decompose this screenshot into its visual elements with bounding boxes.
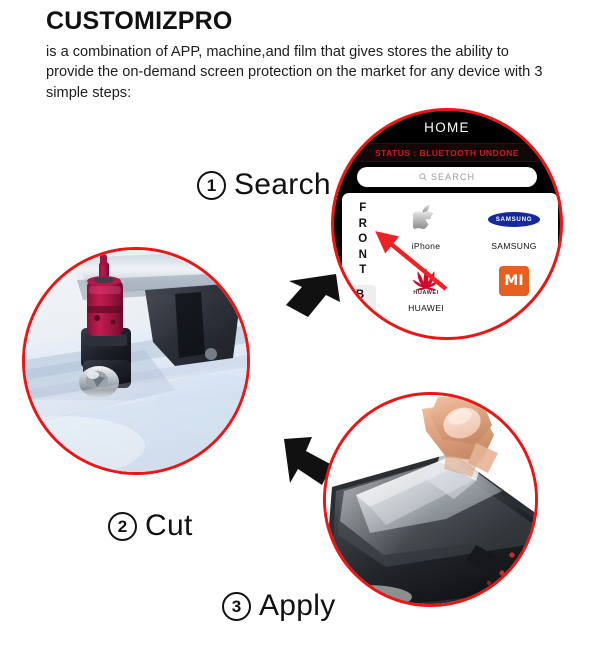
step-3-label: Apply xyxy=(259,589,336,623)
arrow-search-to-cut xyxy=(276,268,346,326)
samsung-wordmark: SAMSUNG xyxy=(496,216,533,223)
side-tab-front[interactable]: F R O N T xyxy=(352,201,374,279)
step-2-caption: 2 Cut xyxy=(108,509,193,543)
front-letter-n: N xyxy=(352,248,374,264)
apple-logo-icon xyxy=(386,199,466,239)
side-tab-back[interactable]: B xyxy=(344,285,376,327)
brand-label-samsung: SAMSUNG xyxy=(474,241,554,251)
front-letter-r: R xyxy=(352,217,374,233)
mi-logo-icon: MI xyxy=(474,261,554,301)
step-1-caption: 1 Search xyxy=(197,168,331,202)
step-1-label: Search xyxy=(234,168,331,202)
brand-tile-samsung[interactable]: SAMSUNG SAMSUNG xyxy=(474,199,554,251)
front-letter-o: O xyxy=(352,232,374,248)
search-icon xyxy=(419,173,427,181)
step-3-apply-circle xyxy=(323,392,538,607)
step-2-cutter-circle xyxy=(22,247,250,475)
circled-number-one-icon: 1 xyxy=(197,171,226,200)
brand-label-huawei: HUAWEI xyxy=(386,303,466,313)
huawei-wordmark: HUAWEI xyxy=(413,290,438,296)
intro-paragraph: is a combination of APP, machine,and fil… xyxy=(46,42,558,104)
samsung-oval: SAMSUNG xyxy=(488,212,540,227)
brand-tile-huawei[interactable]: HUAWEI HUAWEI xyxy=(386,261,466,313)
samsung-logo-icon: SAMSUNG xyxy=(474,199,554,239)
phone-brand-list: F R O N T B xyxy=(342,193,558,340)
step-1-phone-app-circle: HOME STATUS : BLUETOOTH UNDONE SEARCH F … xyxy=(331,108,563,340)
brand-tile-mi[interactable]: MI xyxy=(474,261,554,303)
mi-wordmark: MI xyxy=(504,273,523,289)
circled-number-three-icon: 3 xyxy=(222,592,251,621)
phone-app-screen: HOME STATUS : BLUETOOTH UNDONE SEARCH F … xyxy=(334,111,560,337)
brand-label-iphone: iPhone xyxy=(386,241,466,251)
hand-applying-screen-film-photo xyxy=(326,395,538,607)
phone-search-bar-area: SEARCH xyxy=(334,163,560,191)
front-letter-t: T xyxy=(352,263,374,279)
phone-app-title: HOME xyxy=(424,120,470,135)
back-letter-b: B xyxy=(344,285,376,304)
cutting-machine-blade-photo xyxy=(25,250,250,475)
phone-app-topbar: HOME xyxy=(334,111,560,143)
huawei-logo-icon: HUAWEI xyxy=(386,261,466,301)
search-input[interactable]: SEARCH xyxy=(357,167,537,187)
circled-number-two-icon: 2 xyxy=(108,512,137,541)
page-title: CUSTOMIZPRO xyxy=(46,8,566,36)
mi-square: MI xyxy=(499,266,529,296)
front-letter-f: F xyxy=(352,201,374,217)
step-3-caption: 3 Apply xyxy=(222,589,336,623)
header: CUSTOMIZPRO is a combination of APP, mac… xyxy=(46,8,566,103)
phone-status-bar: STATUS : BLUETOOTH UNDONE xyxy=(334,143,560,162)
search-placeholder: SEARCH xyxy=(431,172,475,182)
step-2-label: Cut xyxy=(145,509,193,543)
brand-tile-iphone[interactable]: iPhone xyxy=(386,199,466,251)
status-badge: STATUS : BLUETOOTH UNDONE xyxy=(375,148,519,158)
